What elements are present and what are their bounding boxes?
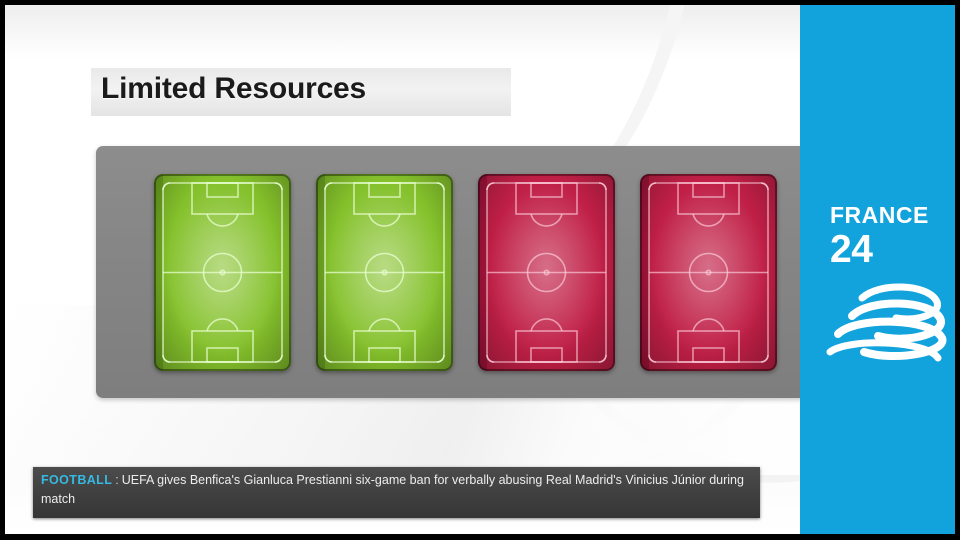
france24-swoosh-globe-icon: [822, 270, 954, 366]
video-frame: Limited Resources: [0, 0, 960, 540]
background-top-band: [5, 5, 800, 61]
pitch-border: [640, 174, 777, 371]
letterbox-top: [0, 0, 960, 5]
pitch-border: [316, 174, 453, 371]
news-ticker: FOOTBALL:UEFA gives Benfica's Gianluca P…: [33, 467, 760, 518]
letterbox-left: [0, 0, 5, 540]
letterbox-bottom: [0, 534, 960, 540]
france24-brand-panel: FRANCE 24: [800, 0, 960, 540]
ticker-headline: UEFA gives Benfica's Gianluca Prestianni…: [41, 473, 744, 506]
ticker-line: FOOTBALL:UEFA gives Benfica's Gianluca P…: [41, 471, 752, 509]
pitch-card-available[interactable]: [316, 174, 453, 371]
france24-logo: FRANCE 24: [830, 204, 948, 269]
page-title: Limited Resources: [101, 72, 366, 106]
ticker-category: FOOTBALL: [41, 473, 112, 487]
pitch-row: [96, 146, 777, 398]
pitch-border: [478, 174, 615, 371]
pitch-border: [154, 174, 291, 371]
brand-name-line2: 24: [830, 230, 948, 269]
pitch-card-available[interactable]: [154, 174, 291, 371]
pitch-panel: [96, 146, 808, 398]
pitch-card-unavailable[interactable]: [640, 174, 777, 371]
brand-name-line1: FRANCE: [830, 204, 948, 227]
ticker-separator: :: [112, 473, 121, 487]
letterbox-right: [955, 0, 960, 540]
pitch-card-unavailable[interactable]: [478, 174, 615, 371]
